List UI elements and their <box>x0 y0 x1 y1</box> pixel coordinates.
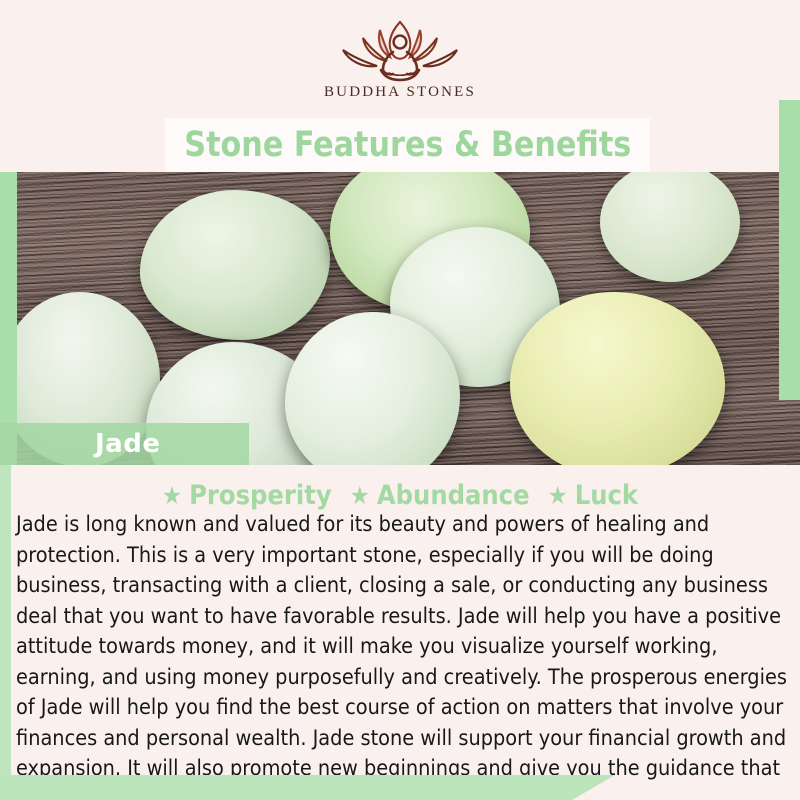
benefit-label: Luck <box>575 480 638 511</box>
page-title: Stone Features & Benefits <box>184 125 631 165</box>
star-icon: ★ <box>162 483 182 508</box>
star-icon: ★ <box>548 483 568 508</box>
stone-name-banner: Jade <box>0 423 249 465</box>
benefit-label: Prosperity <box>189 480 332 511</box>
stone-shape <box>140 190 330 340</box>
benefit-abundance: ★ Abundance <box>350 480 530 511</box>
benefits-row: ★ Prosperity ★ Abundance ★ Luck <box>0 478 800 512</box>
stone-photo <box>0 172 800 465</box>
brand-name: BUDDHA STONES <box>324 84 476 101</box>
decor-green-bar-left-top <box>0 172 17 465</box>
section-title-banner: Stone Features & Benefits <box>165 118 650 172</box>
star-icon: ★ <box>350 483 370 508</box>
decor-green-bar-left-bottom <box>0 465 11 778</box>
decor-green-bar-right <box>779 100 800 400</box>
benefit-prosperity: ★ Prosperity <box>162 480 332 511</box>
decor-green-band-bottom <box>0 775 615 800</box>
stone-description: Jade is long known and valued for its be… <box>16 510 788 800</box>
brand-header: BUDDHA STONES <box>0 0 800 118</box>
benefit-luck: ★ Luck <box>548 480 639 511</box>
infographic-card: BUDDHA STONES Stone Features & Benefits … <box>0 0 800 800</box>
lotus-meditation-icon <box>325 16 475 82</box>
benefit-label: Abundance <box>377 480 530 511</box>
stone-name-label: Jade <box>0 429 160 459</box>
